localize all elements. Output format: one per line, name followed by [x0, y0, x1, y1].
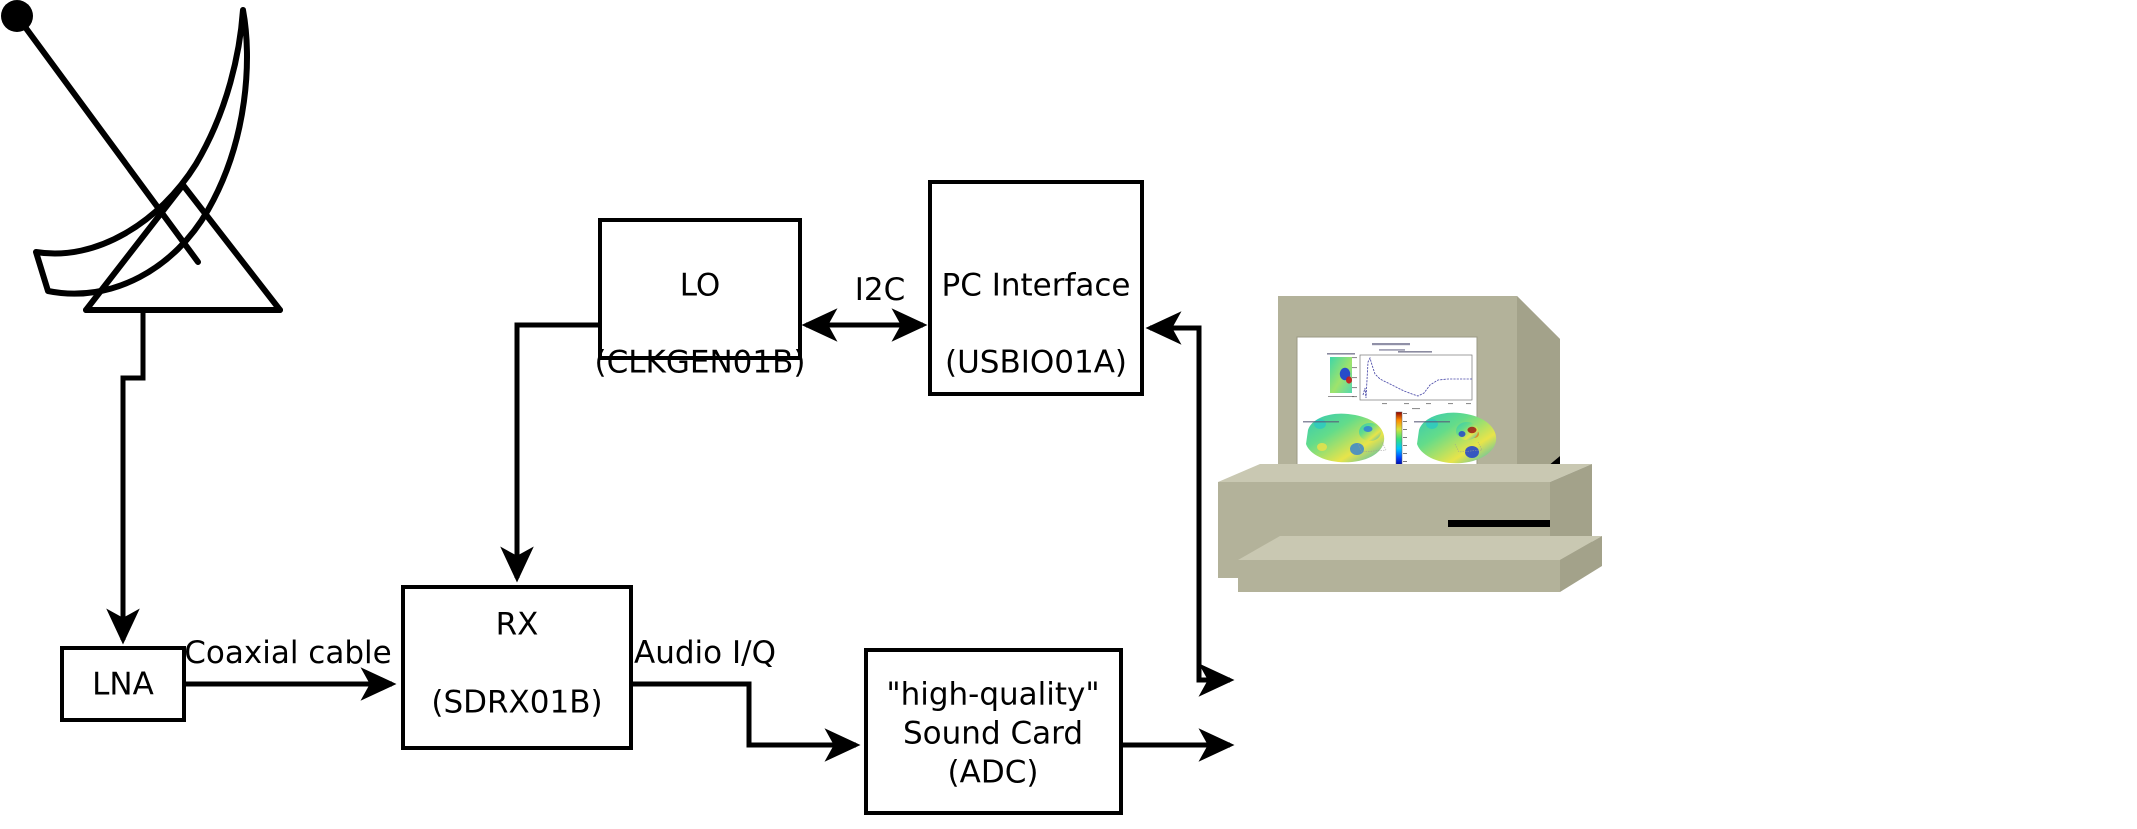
- block-sound-card[interactable]: "high-quality" Sound Card (ADC): [866, 650, 1121, 813]
- keyboard-top-surface[interactable]: [1238, 536, 1602, 560]
- figure-title-text: [1372, 343, 1410, 345]
- dish-reflector: [36, 10, 247, 294]
- figure-surface-left-cold: [1350, 443, 1364, 455]
- figure-sphere-right-cold: [1459, 431, 1466, 437]
- dish-feed-arm: [17, 16, 198, 262]
- figure-lineplot-title: [1398, 351, 1432, 353]
- block-rx[interactable]: RX (SDRX01B): [403, 587, 631, 748]
- diagram-svg: LNA Coaxial cable RX (SDRX01B) LO (CLKGE…: [0, 0, 2137, 829]
- block-lo-label: LO: [680, 268, 721, 304]
- parabolic-dish-antenna: [1, 0, 280, 310]
- block-lo[interactable]: LO (CLKGEN01B): [595, 220, 806, 381]
- block-lna-label: LNA: [92, 667, 154, 703]
- figure-subtitle-text: [1379, 349, 1405, 351]
- block-sound-card-label: Sound Card: [903, 716, 1083, 752]
- block-diagram-canvas: LNA Coaxial cable RX (SDRX01B) LO (CLKGE…: [0, 0, 2137, 829]
- block-rx-part-number: (SDRX01B): [431, 685, 602, 721]
- case-top-bevel: [1218, 464, 1592, 482]
- case-drive-slot[interactable]: [1448, 520, 1550, 527]
- block-pc-interface[interactable]: PC Interface (USBIO01A): [930, 182, 1142, 394]
- edge-label-audio-iq: Audio I/Q: [634, 635, 776, 671]
- figure-surface-right-cool: [1426, 419, 1438, 429]
- figure-surface-right-cold: [1465, 446, 1479, 458]
- edge-label-coaxial-cable: Coaxial cable: [184, 635, 391, 671]
- wire-lo-to-rx: [517, 325, 600, 578]
- edge-label-i2c: I2C: [855, 272, 906, 308]
- figure-colorbar: [1396, 412, 1402, 466]
- figure-heatmap-axis: [1328, 396, 1354, 397]
- block-lo-part-number: (CLKGEN01B): [595, 345, 806, 381]
- block-lna[interactable]: LNA: [62, 648, 184, 720]
- figure-sphere-left-cold: [1364, 426, 1373, 432]
- desktop-computer[interactable]: [1218, 296, 1602, 592]
- figure-surface-left-caption: [1303, 421, 1339, 423]
- wire-dish-to-lna: [123, 310, 143, 640]
- figure-sphere-right-hot: [1468, 427, 1477, 433]
- keyboard-front-face: [1238, 560, 1560, 592]
- wire-rx-to-sound-card: [631, 684, 856, 745]
- figure-surface-left-warm: [1317, 443, 1327, 451]
- figure-surface-left-cool: [1314, 419, 1326, 429]
- figure-heatmap-hot-spot: [1346, 376, 1352, 383]
- block-pc-interface-label: PC Interface: [942, 268, 1131, 304]
- block-rx-label: RX: [496, 607, 539, 643]
- figure-surface-right-caption: [1414, 421, 1450, 423]
- figure-sphere-left: [1359, 423, 1381, 441]
- figure-heatmap-caption: [1327, 353, 1355, 355]
- block-sound-card-part-number: (ADC): [948, 755, 1039, 791]
- block-sound-card-quality-label: "high-quality": [886, 677, 1099, 713]
- block-pc-interface-part-number: (USBIO01A): [945, 345, 1127, 381]
